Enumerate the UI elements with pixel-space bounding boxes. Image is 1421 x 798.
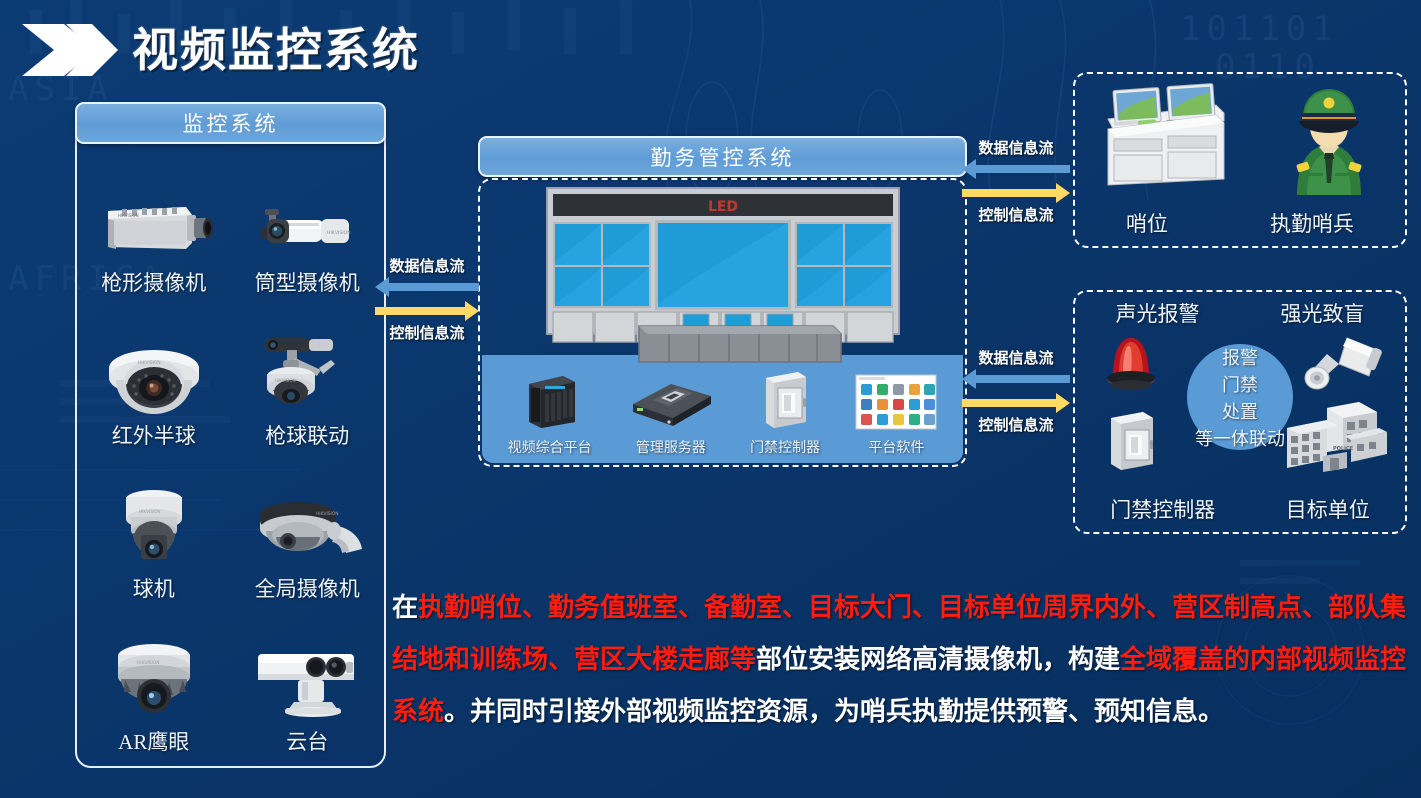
sidebar-title: 监控系统	[75, 102, 386, 144]
ir-dome-camera-icon: HIKVISION	[94, 338, 214, 420]
bidirectional-arrows-icon	[375, 275, 479, 325]
camera-grid: HIKVISION 枪形摄像机	[77, 148, 384, 760]
audible-visual-alarm-label: 声光报警	[1116, 298, 1200, 328]
flow-control-label: 控制信息流	[978, 417, 1053, 434]
camera-item[interactable]: HIKVISION 红外半球	[77, 301, 231, 454]
access-controller-label: 门禁控制器	[1110, 494, 1215, 524]
guard-console-desk-icon	[1098, 79, 1230, 200]
flow-data-label: 数据信息流	[389, 258, 464, 275]
camera-label: 云台	[286, 726, 328, 756]
bidirectional-arrows-icon	[962, 157, 1070, 207]
camera-label: 全局摄像机	[255, 573, 360, 603]
svg-text:HIKVISION: HIKVISION	[275, 378, 296, 383]
camera-item[interactable]: HIKVISION 枪球联动	[231, 301, 385, 454]
camera-item[interactable]: HIKVISION 全局摄像机	[231, 454, 385, 607]
paragraph-segment-4: 。并同时引接外部视频监控资源，为哨兵执勤提供预警、预知信息。	[444, 697, 1224, 727]
flow-data-label: 数据信息流	[978, 140, 1053, 157]
camera-label: 筒型摄像机	[255, 267, 360, 297]
alarm-beacon-icon	[1099, 330, 1163, 397]
svg-text:HIKVISION: HIKVISION	[327, 230, 351, 236]
camera-label: 球机	[133, 573, 175, 603]
duty-control-system-title: 勤务管控系统	[478, 136, 967, 177]
access-controller-box-icon	[760, 368, 810, 435]
camera-label: 枪形摄像机	[101, 267, 206, 297]
circle-line: 报警	[1222, 344, 1258, 370]
svg-text:101101: 101101	[1180, 9, 1339, 49]
control-room-illustration: LED	[480, 184, 965, 364]
rack-server-icon	[627, 378, 715, 435]
bullet-camera-icon: HIKVISION	[247, 187, 367, 267]
svg-text:POLICE: POLICE	[1333, 446, 1354, 452]
bidirectional-arrows-icon	[962, 367, 1070, 417]
device-item[interactable]: 平台软件	[855, 374, 937, 457]
svg-text:HIKVISION: HIKVISION	[139, 509, 161, 514]
page-header: 视频监控系统	[20, 22, 420, 78]
video-platform-server-icon	[519, 372, 581, 435]
flow-data-label: 数据信息流	[978, 350, 1053, 367]
guard-post-panel: 哨位 执勤哨兵	[1073, 72, 1407, 248]
slide-canvas: ASIA AFRICA 101101 0110	[0, 0, 1421, 798]
duty-control-system-panel: LED	[478, 178, 967, 467]
camera-label: AR鹰眼	[118, 726, 189, 756]
flow-left: 数据信息流 控制信息流	[375, 258, 479, 343]
circle-line: 门禁	[1222, 371, 1258, 397]
gun-ball-linkage-camera-icon: HIKVISION	[247, 330, 367, 420]
paragraph-segment-2: 部位安装网络高清摄像机，构建	[756, 645, 1120, 675]
camera-item[interactable]: HIKVISION 枪形摄像机	[77, 148, 231, 301]
double-chevron-right-icon	[20, 22, 118, 78]
svg-text:HIKVISION: HIKVISION	[316, 511, 339, 517]
pan-tilt-thermal-camera-icon	[242, 638, 372, 726]
guard-post-label: 哨位	[1126, 208, 1168, 238]
target-unit-building-icon: POLICE	[1281, 400, 1391, 481]
alarm-linkage-panel: 声光报警 强光致盲	[1073, 290, 1407, 534]
device-item[interactable]: 门禁控制器	[750, 368, 820, 457]
svg-text:HIKVISION: HIKVISION	[118, 213, 139, 218]
panoramic-camera-icon: HIKVISION	[242, 491, 372, 573]
device-label: 平台软件	[868, 437, 924, 457]
strobe-light-icon	[1301, 332, 1383, 401]
device-label: 门禁控制器	[750, 437, 820, 457]
camera-item[interactable]: 云台	[231, 607, 385, 760]
flow-right-top: 数据信息流 控制信息流	[962, 140, 1070, 225]
ar-eagle-eye-camera-icon: HIKVISION	[93, 638, 215, 726]
device-label: 视频综合平台	[508, 437, 592, 457]
flow-right-bottom: 数据信息流 控制信息流	[962, 350, 1070, 435]
box-camera-icon: HIKVISION	[94, 187, 214, 267]
circle-line: 处置	[1222, 398, 1258, 424]
circle-line: 等一体联动	[1195, 425, 1285, 451]
camera-label: 红外半球	[112, 420, 196, 450]
paragraph-segment-0: 在	[392, 593, 418, 623]
access-controller-box-icon	[1105, 408, 1157, 479]
flow-control-label: 控制信息流	[389, 325, 464, 342]
camera-item[interactable]: HIKVISION AR鹰眼	[77, 607, 231, 760]
led-text: LED	[707, 199, 737, 215]
device-item[interactable]: 管理服务器	[627, 378, 715, 457]
device-item[interactable]: 视频综合平台	[508, 372, 592, 457]
page-title: 视频监控系统	[132, 27, 420, 73]
platform-software-grid-icon	[855, 374, 937, 435]
svg-text:HIKVISION: HIKVISION	[137, 660, 160, 666]
device-label: 管理服务器	[636, 437, 706, 457]
target-unit-label: 目标单位	[1286, 494, 1370, 524]
svg-text:HIKVISION: HIKVISION	[138, 360, 161, 366]
soldier-label: 执勤哨兵	[1270, 208, 1354, 238]
camera-item[interactable]: HIKVISION 筒型摄像机	[231, 148, 385, 301]
ptz-dome-camera-icon: HIKVISION	[95, 483, 213, 573]
flow-control-label: 控制信息流	[978, 207, 1053, 224]
integrated-linkage-circle: 报警 门禁 处置 等一体联动	[1187, 344, 1293, 450]
strobe-blinding-light-label: 强光致盲	[1281, 298, 1365, 328]
camera-label: 枪球联动	[265, 420, 349, 450]
center-device-row: 视频综合平台 管理服务器	[480, 368, 965, 457]
description-paragraph: 在执勤哨位、勤务值班室、备勤室、目标大门、目标单位周界内外、营区制高点、部队集结…	[392, 582, 1412, 738]
camera-item[interactable]: HIKVISION 球机	[77, 454, 231, 607]
surveillance-system-panel: 监控系统 HIKVISION	[75, 102, 386, 768]
soldier-on-duty-icon	[1275, 79, 1383, 200]
